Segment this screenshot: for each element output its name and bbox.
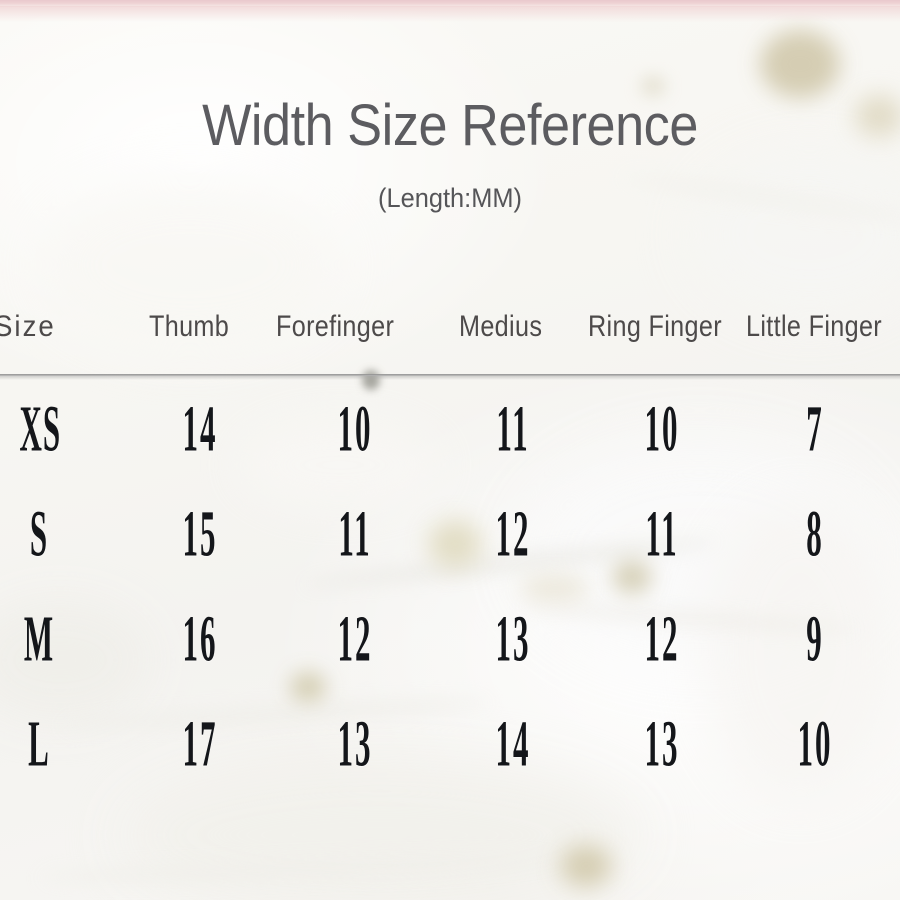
column-header-thumb: Thumb <box>149 310 229 344</box>
cell-medius: 14 <box>493 707 533 782</box>
column-header-medius: Medius <box>459 310 542 344</box>
cell-size: XS <box>20 392 59 467</box>
cell-thumb: 14 <box>180 392 220 467</box>
cell-thumb: 17 <box>180 707 220 782</box>
cell-size: L <box>20 707 59 782</box>
cell-forefinger: 13 <box>335 707 375 782</box>
cell-little-finger: 7 <box>795 392 835 467</box>
cell-thumb: 16 <box>180 602 220 677</box>
page-title: Width Size Reference <box>45 96 855 157</box>
column-header-little-finger: Little Finger <box>746 310 882 344</box>
cell-size: M <box>20 602 59 677</box>
cell-forefinger: 11 <box>335 497 375 572</box>
table-header-row: Size Thumb Forefinger Medius Ring Finger… <box>0 310 900 358</box>
cell-ring-finger: 10 <box>642 392 682 467</box>
header-divider-shadow <box>0 376 900 380</box>
cell-ring-finger: 13 <box>642 707 682 782</box>
table-row: XS 14 10 11 10 7 <box>0 392 900 497</box>
cell-ring-finger: 11 <box>642 497 682 572</box>
table-body: XS 14 10 11 10 7 S 15 11 12 11 8 M 16 12… <box>0 392 900 812</box>
cell-forefinger: 10 <box>335 392 375 467</box>
cell-medius: 11 <box>493 392 533 467</box>
cell-size: S <box>20 497 59 572</box>
cell-little-finger: 10 <box>795 707 835 782</box>
table-row: M 16 12 13 12 9 <box>0 602 900 707</box>
table-row: S 15 11 12 11 8 <box>0 497 900 602</box>
cell-thumb: 15 <box>180 497 220 572</box>
table-row: L 17 13 14 13 10 <box>0 707 900 812</box>
column-header-size: Size <box>0 310 56 344</box>
cell-medius: 12 <box>493 497 533 572</box>
page-subtitle: (Length:MM) <box>27 183 873 214</box>
cell-forefinger: 12 <box>335 602 375 677</box>
cell-little-finger: 9 <box>795 602 835 677</box>
size-chart-image: Width Size Reference (Length:MM) Size Th… <box>0 0 900 900</box>
column-header-ring-finger: Ring Finger <box>588 310 722 344</box>
cell-medius: 13 <box>493 602 533 677</box>
cell-little-finger: 8 <box>795 497 835 572</box>
cell-ring-finger: 12 <box>642 602 682 677</box>
column-header-forefinger: Forefinger <box>276 310 394 344</box>
